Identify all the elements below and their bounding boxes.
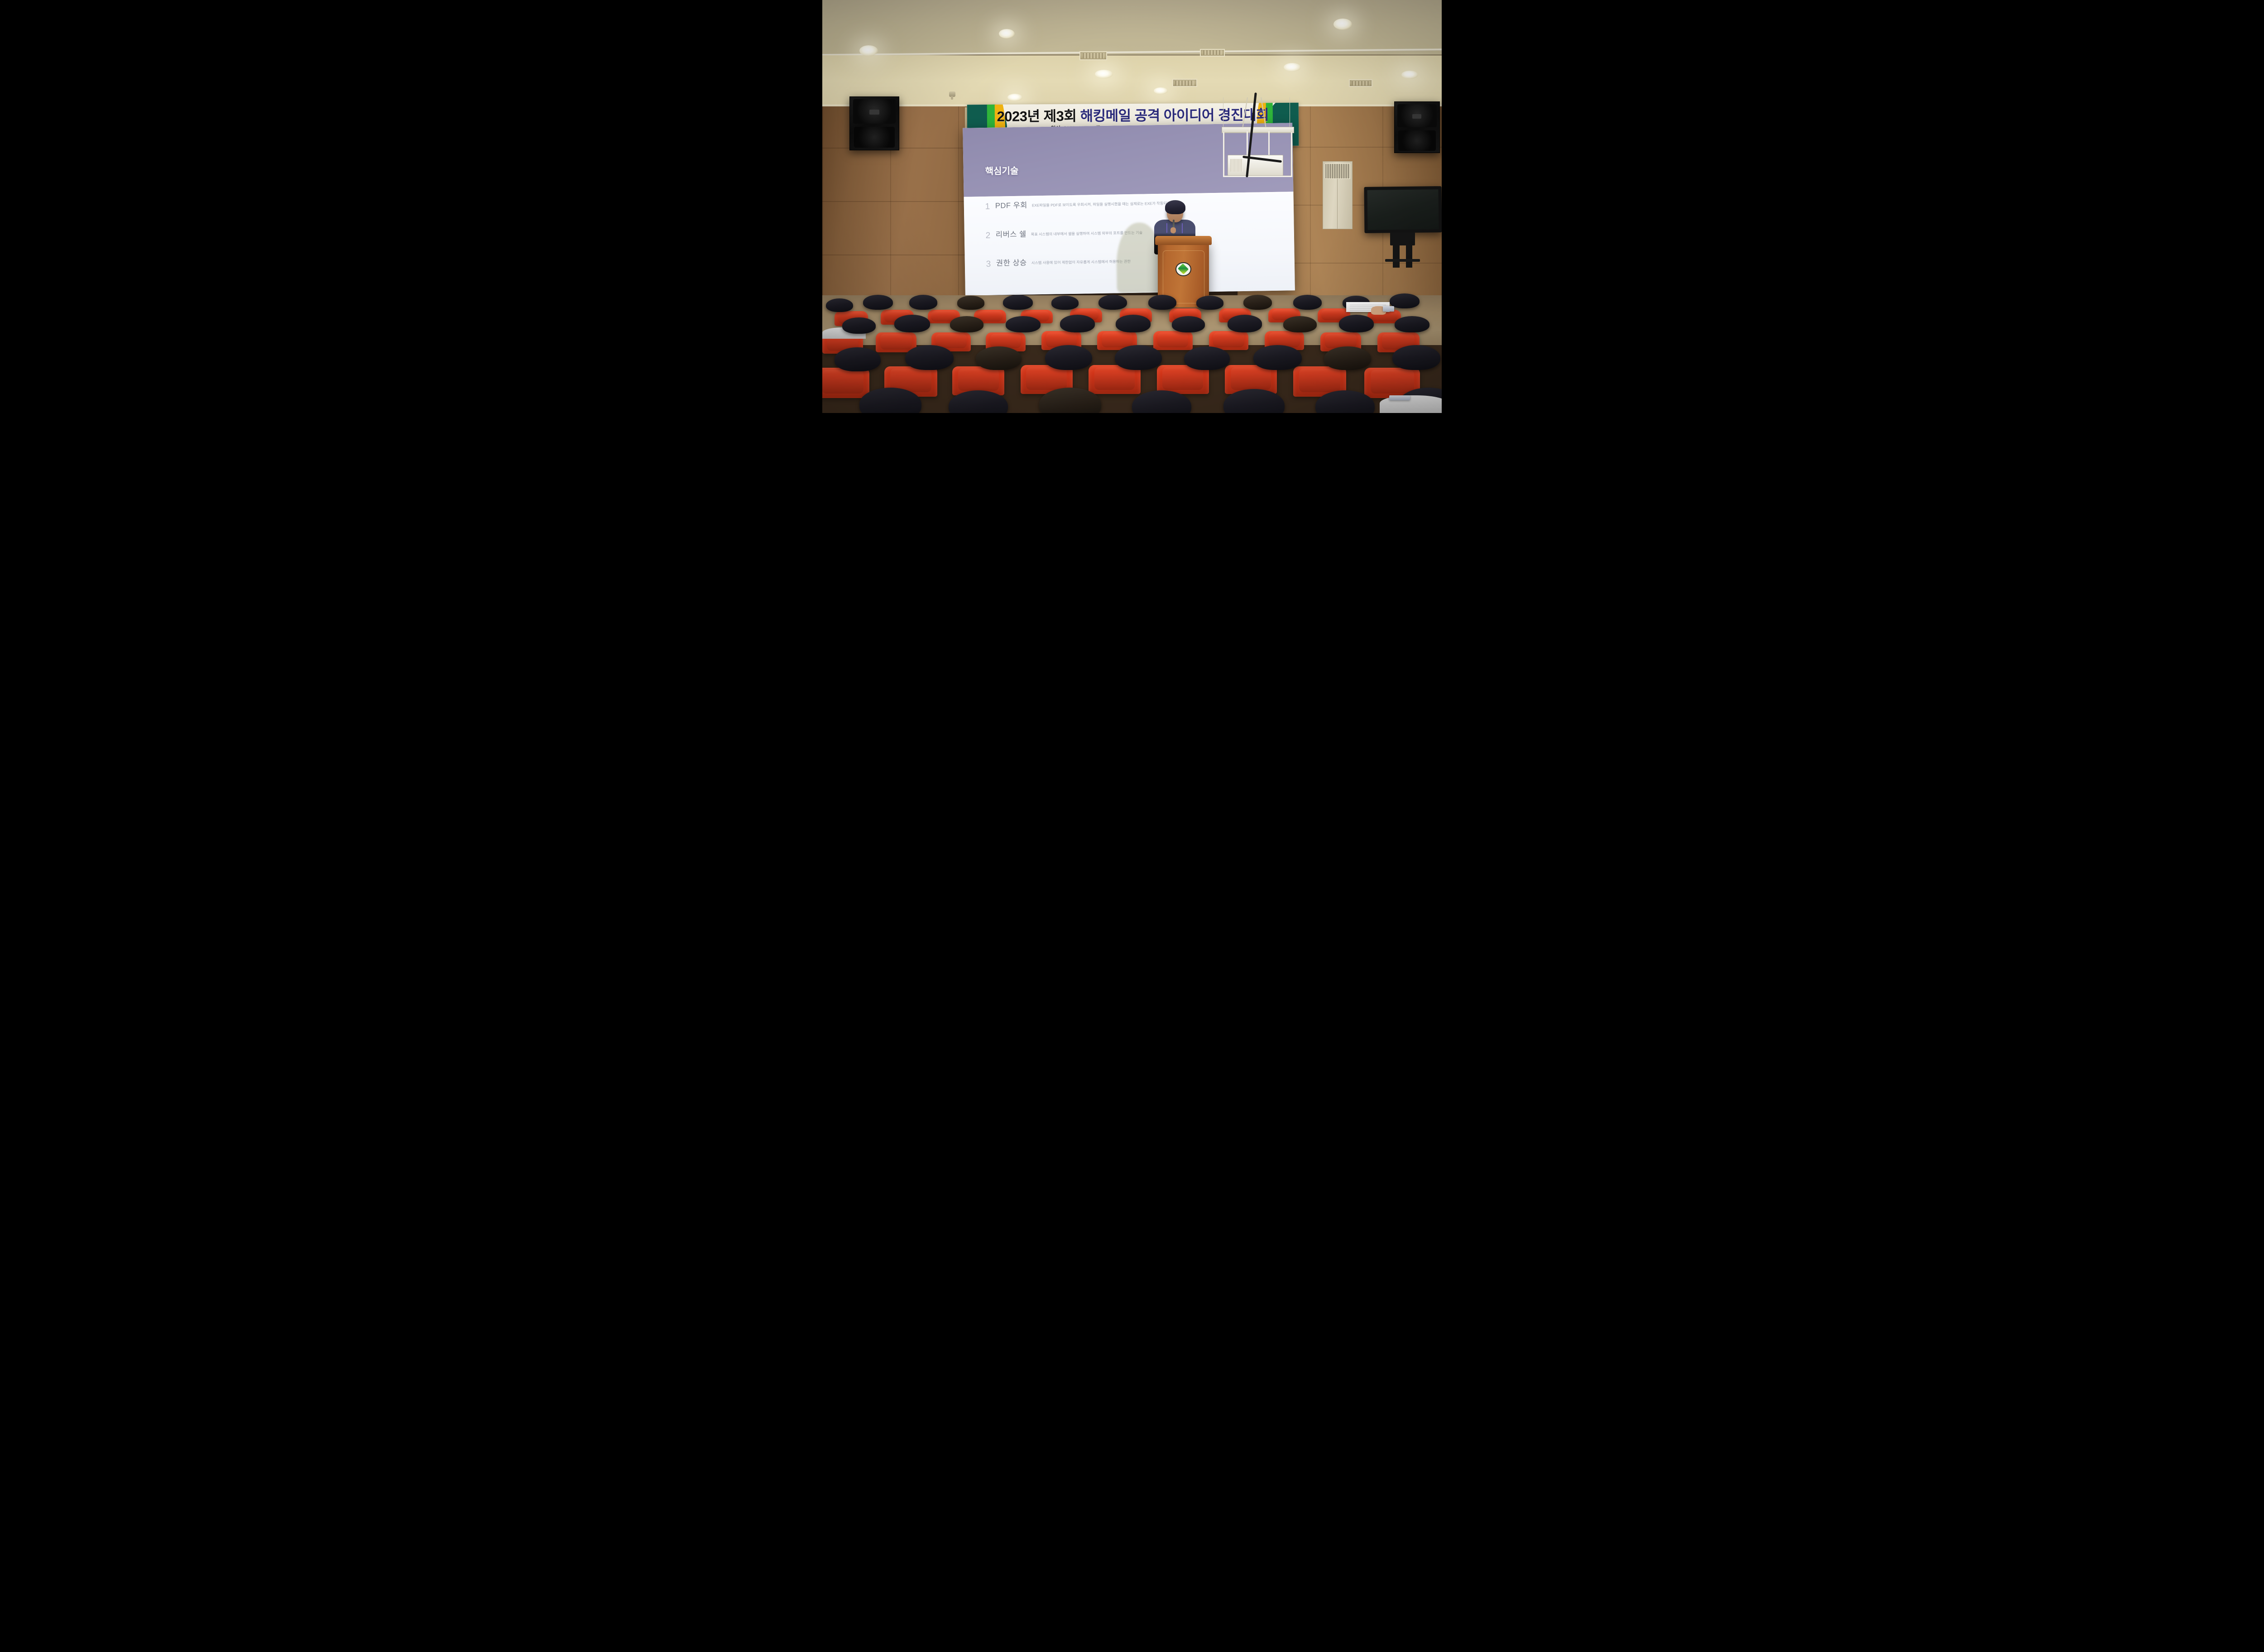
speaker-woofer [1398, 130, 1436, 151]
monitor-stand-column [1406, 232, 1412, 268]
square-ceiling-vent-icon [1079, 51, 1108, 60]
attendee-head [1243, 295, 1272, 310]
speaker-badge [1412, 114, 1421, 119]
auditorium-photo: 2023년 제3회 해킹메일 공격 아이디어 경진대회 ▶일시: 2023. 1… [822, 0, 1442, 413]
attendee-head [1253, 345, 1302, 370]
presenter-hand [1170, 227, 1176, 233]
slide-item-number: 2 [985, 232, 991, 240]
attendee-head [1148, 295, 1177, 310]
attendee-head [826, 298, 853, 312]
recessed-round-downlight-icon [1333, 19, 1352, 30]
presenter-hood-string [1166, 223, 1167, 233]
monitor-mobile-stand [1389, 232, 1416, 268]
recessed-round-downlight-icon [1154, 87, 1168, 94]
slide-item-term: 권한 상승 [996, 259, 1027, 267]
side-exit-door[interactable] [1323, 161, 1353, 229]
slide-title: 핵심기술 [985, 163, 1019, 177]
wall-monitor-display[interactable] [1364, 186, 1442, 233]
rig-suspension-wire [1261, 97, 1266, 128]
slide-item-description: 시스템 사용에 있어 제한없이 자유롭게 시스템에서 허용하는 권한 [1031, 258, 1131, 266]
attendee-head [1392, 345, 1441, 370]
slide-item-number: 3 [985, 260, 992, 269]
rig-suspension-wire [1223, 97, 1224, 129]
attendee-head [950, 316, 983, 332]
rig-suspension-wire [1242, 97, 1248, 128]
auditorium-seat [1153, 331, 1193, 350]
podium-top-surface [1155, 236, 1212, 245]
slide-item-description: EXE파일을 PDF로 보이도록 우회시켜, 파일을 실행시켰을 때는 실제로는… [1032, 200, 1175, 209]
attendee-head [1098, 295, 1127, 310]
square-ceiling-vent-icon [1200, 49, 1225, 57]
fire-sprinkler-head-icon [949, 91, 955, 97]
attendee-head [1228, 315, 1262, 332]
attendee-head [957, 296, 984, 310]
attendee-head [1003, 295, 1033, 310]
speaker-woofer [854, 127, 895, 148]
recessed-round-downlight-icon [1007, 94, 1022, 101]
recessed-round-downlight-icon [999, 29, 1015, 38]
monitor-screen-glass [1367, 189, 1439, 230]
attendee-head [1324, 346, 1371, 370]
attendee-head [909, 295, 938, 310]
wall-mounted-pa-speaker-right [1394, 101, 1440, 153]
attendee-head [894, 315, 930, 332]
slide-item-term: PDF 우회 [995, 202, 1027, 210]
square-ceiling-vent-icon [1349, 79, 1372, 87]
attendee-head [1045, 345, 1092, 370]
attendee-head [1115, 345, 1162, 370]
auditorium-seat [822, 368, 869, 398]
attendee-head [1006, 316, 1041, 332]
attendee-head [1116, 315, 1151, 332]
audience-seating-area [822, 287, 1442, 413]
ceiling-projector-rig [1220, 97, 1295, 184]
slide-list-item: 1 PDF 우회 EXE파일을 PDF로 보이도록 우회시켜, 파일을 실행시켰… [984, 198, 1284, 211]
attendee-head [1283, 316, 1317, 332]
attendee-phone [1389, 395, 1410, 400]
door-seam [1337, 179, 1338, 229]
monitor-stand-shelf [1385, 259, 1420, 262]
attendee-head [835, 347, 880, 371]
attendee-head [842, 317, 876, 334]
attendee-head [1172, 316, 1205, 332]
recessed-round-downlight-icon [859, 45, 878, 56]
rig-suspension-wire [1290, 97, 1290, 129]
presenter-hair [1165, 200, 1185, 214]
door-vent-grille-icon [1325, 163, 1350, 179]
attendee-head [863, 295, 893, 310]
attendee-head [1051, 296, 1079, 310]
banner-title-year: 2023년 제3회 [997, 108, 1077, 125]
recessed-round-downlight-icon [1095, 70, 1113, 78]
attendee-phone [1383, 306, 1394, 312]
attendee-head [1196, 296, 1223, 310]
slide-item-term: 리버스 쉘 [996, 231, 1026, 239]
presenter-hood-string [1182, 223, 1183, 233]
recessed-round-downlight-icon [1284, 63, 1301, 72]
recessed-round-downlight-icon [1401, 71, 1418, 79]
monitor-stand-column [1393, 232, 1399, 268]
attendee-head [905, 345, 954, 370]
attendee-head [1390, 293, 1420, 308]
slide-item-number: 1 [984, 202, 991, 211]
attendee-head [1395, 316, 1429, 332]
wall-mounted-pa-speaker-left [849, 96, 899, 150]
square-ceiling-vent-icon [1172, 79, 1197, 87]
attendee-head [976, 346, 1022, 370]
attendee-head [1060, 315, 1095, 332]
attendee-head [1339, 315, 1374, 332]
speaker-badge [869, 110, 879, 114]
attendee-head [1184, 346, 1230, 370]
attendee-head [1293, 295, 1322, 310]
